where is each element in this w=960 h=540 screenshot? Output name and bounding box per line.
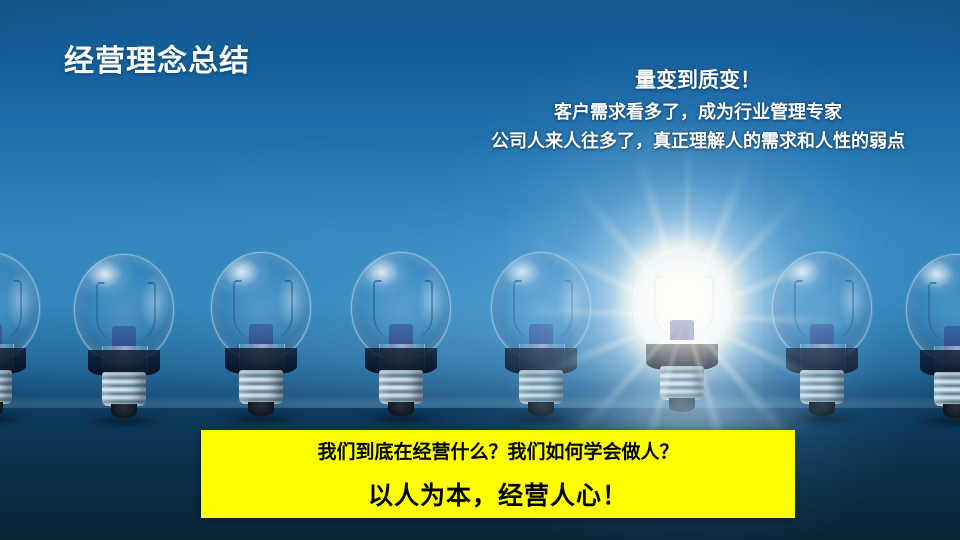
light-bulb-3 (205, 252, 317, 420)
bulb-contact-tip (248, 402, 274, 416)
bulb-screw-base (379, 370, 423, 404)
bulb-screw-base (934, 372, 960, 406)
bulb-screw-base (0, 370, 12, 404)
headline-line-1: 量变到质变！ (438, 70, 958, 91)
bulb-screw-base (102, 372, 146, 406)
page-title: 经营理念总结 (64, 36, 250, 80)
bulb-contact-tip (943, 404, 960, 418)
light-bulb-1 (0, 252, 46, 420)
headline-block: 量变到质变！ 客户需求看多了，成为行业管理专家 公司人来人往多了，真正理解人的需… (438, 70, 958, 150)
bulb-contact-tip (528, 402, 554, 416)
light-bulb-6-lit (626, 248, 738, 416)
callout-emphasis-line: 以人为本，经营人心！ (368, 476, 628, 512)
callout-question-line: 我们到底在经营什么？我们如何学会做人？ (317, 437, 678, 464)
light-bulb-2 (68, 254, 180, 422)
callout-box: 我们到底在经营什么？我们如何学会做人？ 以人为本，经营人心！ (201, 430, 795, 518)
presentation-slide: 经营理念总结 量变到质变！ 客户需求看多了，成为行业管理专家 公司人来人往多了，… (0, 0, 960, 540)
bulb-screw-base (239, 370, 283, 404)
bulb-screw-base (519, 370, 563, 404)
light-bulb-8 (900, 254, 960, 422)
light-bulb-4 (345, 252, 457, 420)
bulb-contact-tip (111, 404, 137, 418)
headline-line-3: 公司人来人往多了，真正理解人的需求和人性的弱点 (438, 132, 958, 150)
bulb-contact-tip (388, 402, 414, 416)
headline-line-2: 客户需求看多了，成为行业管理专家 (438, 103, 958, 121)
bulb-shadow (0, 412, 32, 426)
